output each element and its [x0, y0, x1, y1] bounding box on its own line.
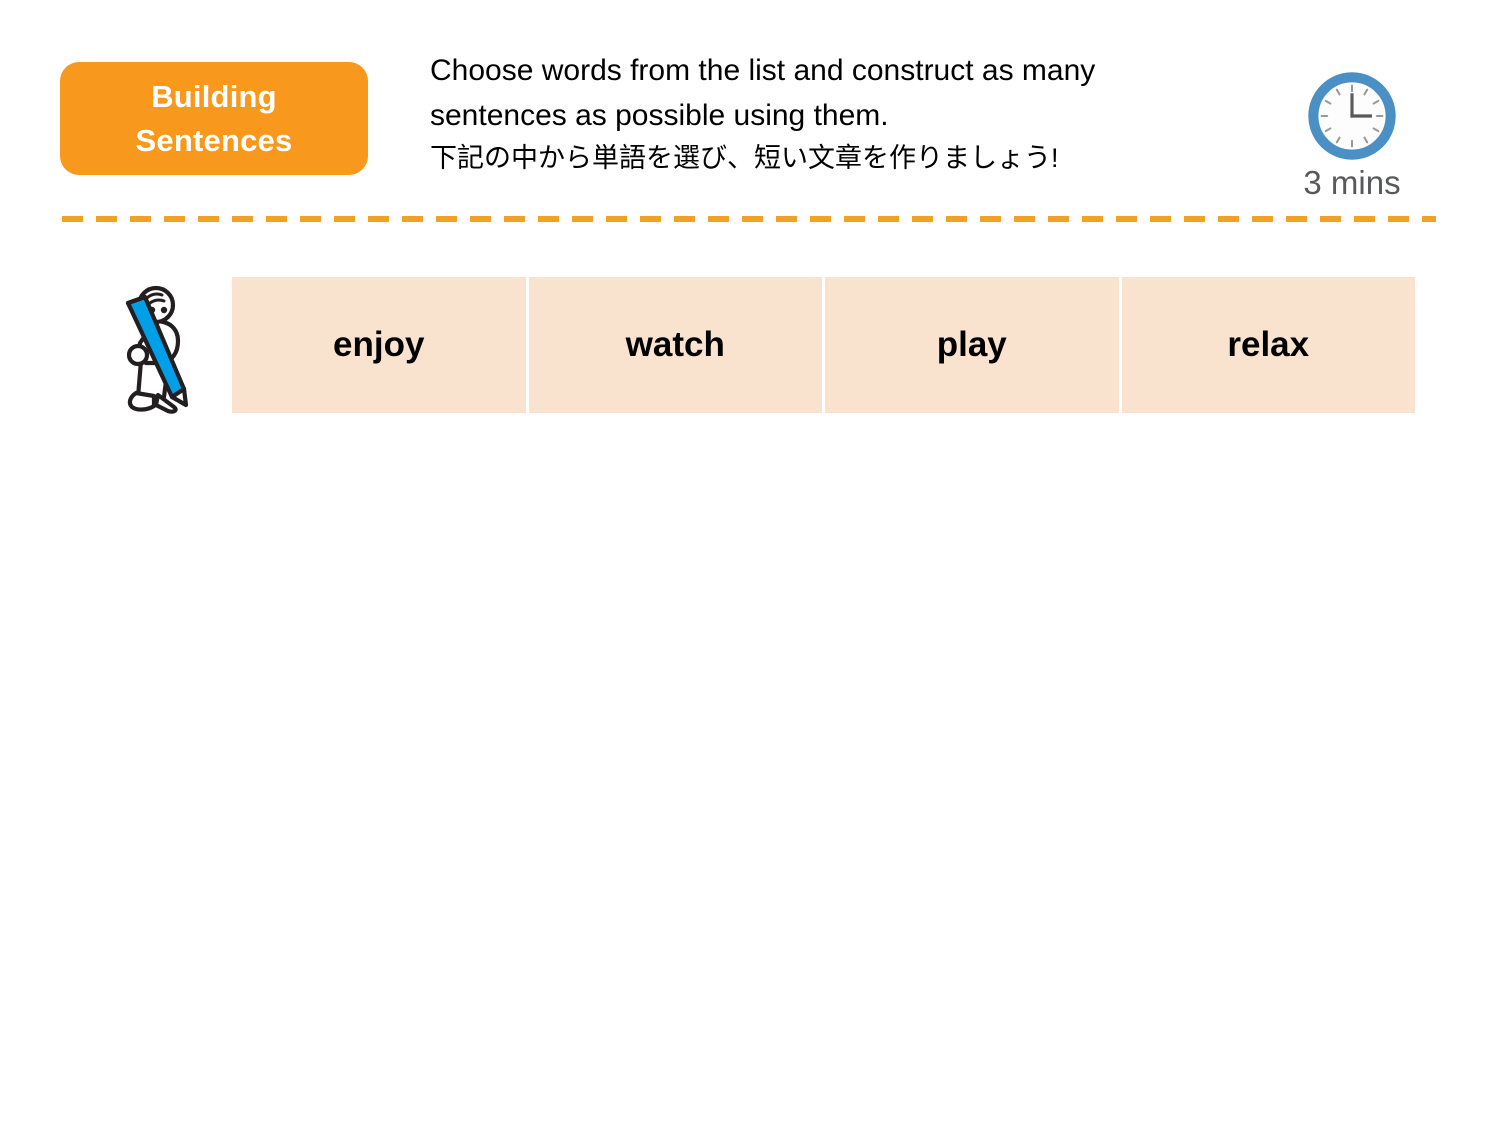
- word-table: enjoy watch play relax: [232, 277, 1415, 413]
- activity-title-line2: Sentences: [136, 119, 293, 163]
- word-cell[interactable]: watch: [529, 277, 826, 413]
- instructions-block: Choose words from the list and construct…: [430, 48, 1190, 178]
- activity-title-line1: Building: [151, 75, 277, 119]
- clock-icon: [1306, 70, 1398, 162]
- word-label: relax: [1227, 325, 1309, 365]
- answer-writing-area[interactable]: [0, 430, 1500, 1125]
- word-cell[interactable]: play: [825, 277, 1122, 413]
- dashed-separator: [62, 216, 1436, 222]
- word-list-row: enjoy watch play relax: [100, 277, 1420, 415]
- activity-title-badge: Building Sentences: [60, 62, 368, 175]
- word-label: enjoy: [333, 325, 424, 365]
- header: Building Sentences Choose words from the…: [0, 0, 1500, 205]
- timer-duration-label: 3 mins: [1303, 164, 1400, 202]
- word-cell[interactable]: enjoy: [232, 277, 529, 413]
- word-cell[interactable]: relax: [1122, 277, 1416, 413]
- instruction-english-line1: Choose words from the list and construct…: [430, 48, 1190, 93]
- word-label: play: [937, 325, 1007, 365]
- timer-block: 3 mins: [1282, 70, 1422, 202]
- instruction-japanese: 下記の中から単語を選び、短い文章を作りましょう!: [430, 138, 1190, 178]
- instruction-english-line2: sentences as possible using them.: [430, 93, 1190, 138]
- word-label: watch: [626, 325, 725, 365]
- person-with-pencil-icon: [112, 277, 194, 415]
